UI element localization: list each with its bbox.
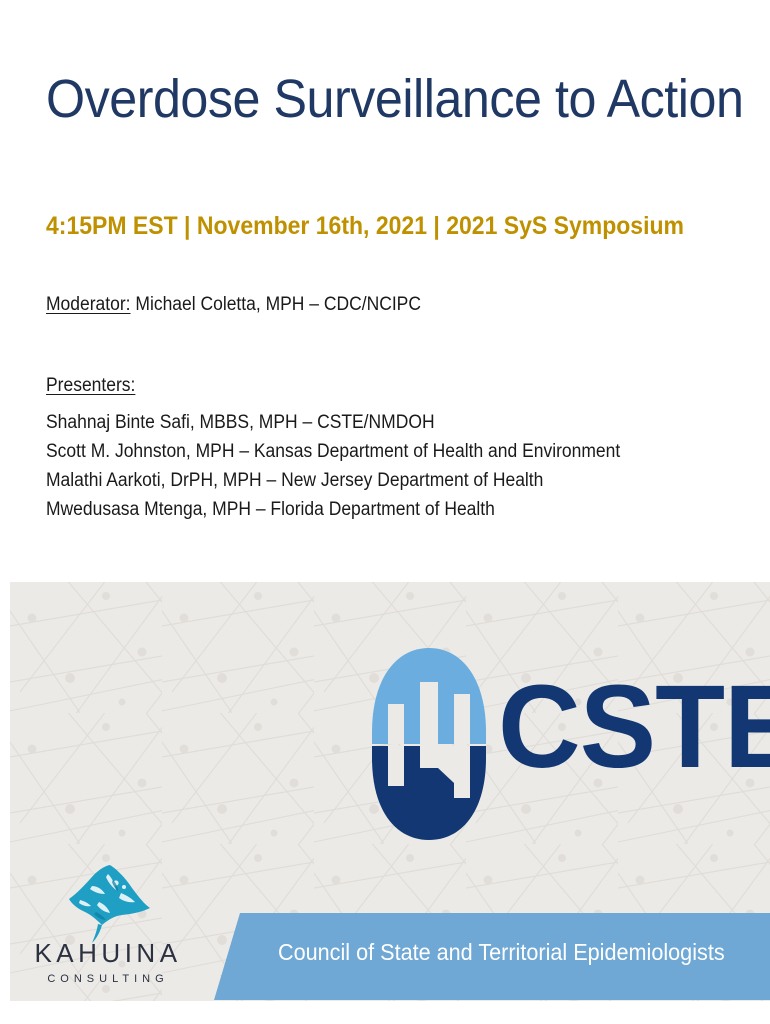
cste-tagline-banner: Council of State and Territorial Epidemi… xyxy=(214,913,770,1000)
kahuina-sub-wordmark: CONSULTING xyxy=(18,974,198,985)
list-item: Scott M. Johnston, MPH – Kansas Departme… xyxy=(46,442,620,471)
cste-wordmark: CSTE xyxy=(498,668,770,786)
list-item: Malathi Aarkoti, DrPH, MPH – New Jersey … xyxy=(46,471,620,500)
kahuina-logo: KAHUINA CONSULTING xyxy=(18,862,198,994)
list-item: Mwedusasa Mtenga, MPH – Florida Departme… xyxy=(46,500,620,529)
moderator-value: Michael Coletta, MPH – CDC/NCIPC xyxy=(131,294,421,315)
manta-ray-icon xyxy=(66,862,154,944)
list-item: Shahnaj Binte Safi, MBBS, MPH – CSTE/NMD… xyxy=(46,413,620,442)
presentation-slide: Overdose Surveillance to Action 4:15PM E… xyxy=(0,0,770,1024)
cste-logo-mark-icon xyxy=(368,646,490,842)
kahuina-wordmark: KAHUINA xyxy=(18,940,198,966)
presenter-list: Shahnaj Binte Safi, MBBS, MPH – CSTE/NMD… xyxy=(46,413,670,529)
moderator-line: Moderator: Michael Coletta, MPH – CDC/NC… xyxy=(46,294,421,316)
page-title: Overdose Surveillance to Action xyxy=(46,70,697,128)
presenters-heading: Presenters: xyxy=(46,375,135,397)
slide-subtitle: 4:15PM EST | November 16th, 2021 | 2021 … xyxy=(46,212,684,241)
cste-logo: CSTE xyxy=(368,646,724,842)
cste-tagline: Council of State and Territorial Epidemi… xyxy=(278,939,725,966)
moderator-label: Moderator: xyxy=(46,294,131,315)
slide-text-block: Overdose Surveillance to Action 4:15PM E… xyxy=(46,70,746,128)
